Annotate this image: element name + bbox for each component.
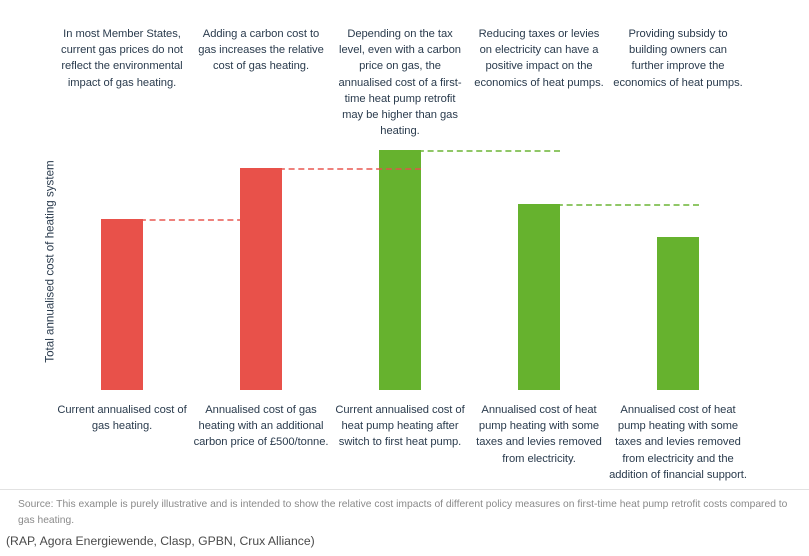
bar-3 [518, 204, 560, 390]
connector-line-3 [518, 204, 699, 206]
bar-4 [657, 237, 699, 390]
chart-page: In most Member States, current gas price… [0, 0, 809, 556]
credit-line: (RAP, Agora Energiewende, Clasp, GPBN, C… [6, 533, 786, 549]
plot-area [0, 0, 809, 400]
footer-divider [0, 489, 809, 490]
bar-1 [240, 168, 282, 390]
bar-2 [379, 150, 421, 390]
category-label-4: Annualised cost of heat pump heating wit… [608, 402, 748, 483]
bar-0 [101, 219, 143, 390]
category-label-row: Current annualised cost of gas heating. … [0, 396, 809, 486]
category-label-1: Annualised cost of gas heating with an a… [191, 402, 331, 451]
source-note: Source: This example is purely illustrat… [18, 497, 798, 528]
category-label-2: Current annualised cost of heat pump hea… [330, 402, 470, 451]
connector-line-0 [101, 219, 282, 221]
connector-line-2 [379, 150, 560, 152]
category-label-3: Annualised cost of heat pump heating wit… [469, 402, 609, 467]
category-label-0: Current annualised cost of gas heating. [52, 402, 192, 434]
connector-line-1 [240, 168, 421, 170]
